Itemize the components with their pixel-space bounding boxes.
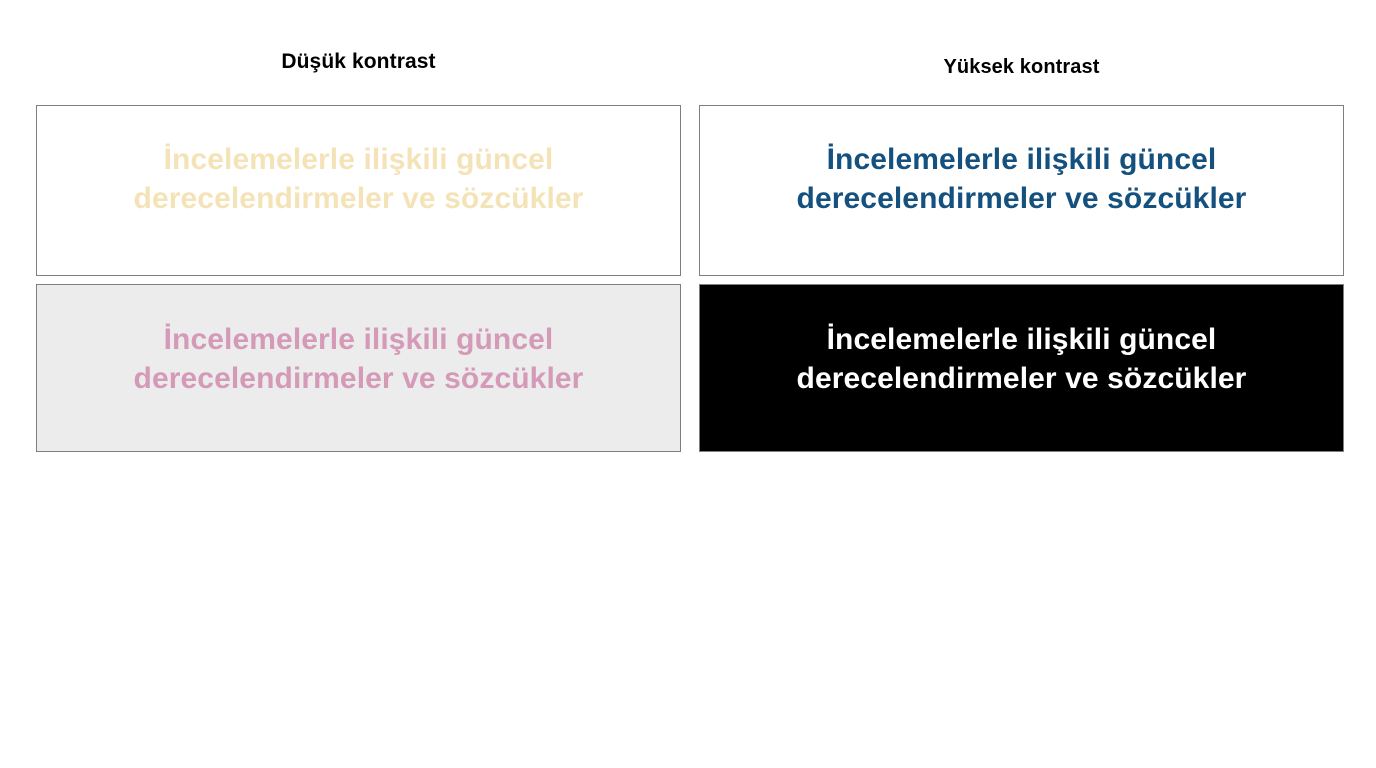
sample-text-cream: İncelemelerle ilişkili güncel derecelend…: [37, 106, 680, 218]
sample-box-low-contrast-pink-on-gray: İncelemelerle ilişkili güncel derecelend…: [36, 284, 681, 452]
sample-text-pink: İncelemelerle ilişkili güncel derecelend…: [37, 285, 680, 398]
contrast-comparison-canvas: Düşük kontrast Yüksek kontrast İncelemel…: [0, 0, 1376, 768]
column-header-high-contrast: Yüksek kontrast: [699, 56, 1344, 79]
sample-text-navy: İncelemelerle ilişkili güncel derecelend…: [700, 106, 1343, 218]
sample-box-high-contrast-navy-on-white: İncelemelerle ilişkili güncel derecelend…: [699, 105, 1344, 276]
column-header-low-contrast: Düşük kontrast: [36, 50, 681, 74]
sample-box-low-contrast-cream-on-white: İncelemelerle ilişkili güncel derecelend…: [36, 105, 681, 276]
sample-text-white: İncelemelerle ilişkili güncel derecelend…: [700, 285, 1343, 398]
sample-box-high-contrast-white-on-black: İncelemelerle ilişkili güncel derecelend…: [699, 284, 1344, 452]
